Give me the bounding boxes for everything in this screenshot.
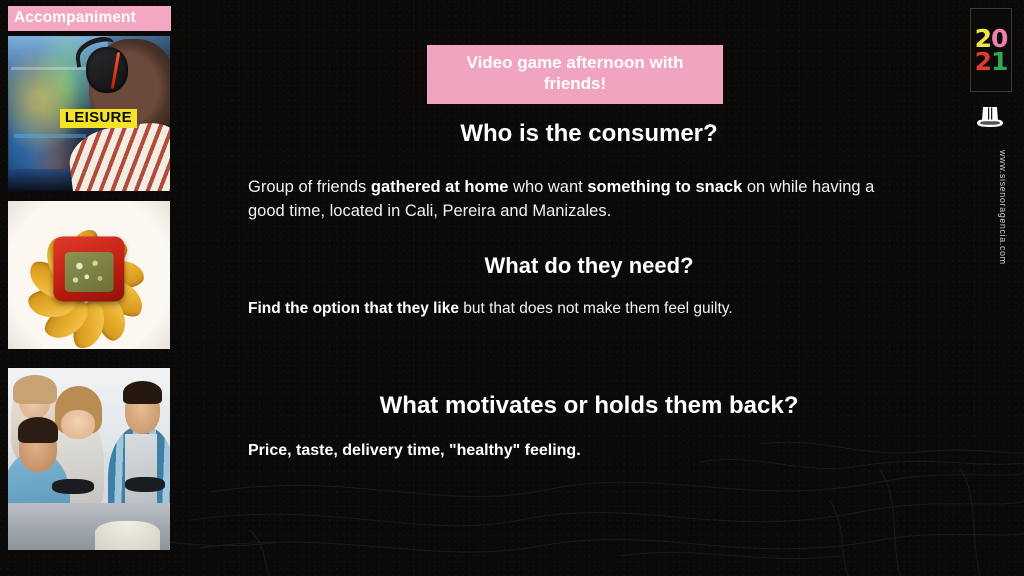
- main-content: Video game afternoon with friends! Who i…: [248, 0, 930, 576]
- year-logo-box: 2 0 2 1: [970, 8, 1012, 92]
- empanadas-photo: [8, 201, 170, 349]
- leisure-badge: LEISURE: [60, 109, 137, 129]
- emphasis-text: something to snack: [587, 178, 742, 196]
- emphasis-text: Price, taste, delivery time, "healthy" f…: [248, 442, 581, 459]
- emphasis-text: gathered at home: [371, 178, 509, 196]
- brand-logo: 2 0 2 1: [968, 8, 1014, 92]
- section-body-motivation: Price, taste, delivery time, "healthy" f…: [248, 439, 908, 462]
- website-url: www.sisenoragencia.com: [998, 150, 1008, 265]
- section-body-need: Find the option that they like but that …: [248, 298, 908, 320]
- gamer-with-headphones-photo: LEISURE: [8, 36, 170, 191]
- section-body-consumer: Group of friends gathered at home who wa…: [248, 176, 908, 224]
- plain-text: Group of friends: [248, 178, 371, 196]
- category-banner: Accompaniment: [8, 6, 171, 31]
- plain-text: who want: [508, 178, 587, 196]
- logo-digit-2b: 2: [975, 50, 991, 73]
- plain-text: but that does not make them feel guilty.: [459, 300, 733, 317]
- section-heading-need: What do they need?: [248, 253, 930, 279]
- logo-digit-1: 1: [991, 50, 1007, 73]
- friends-gaming-photo: [8, 368, 170, 550]
- top-hat-icon: [974, 104, 1006, 130]
- year-logo-row-bottom: 2 1: [975, 50, 1008, 73]
- emphasis-text: Find the option that they like: [248, 300, 459, 317]
- slide-canvas: Accompaniment LEISURE: [0, 0, 1024, 576]
- slide-title-banner: Video game afternoon with friends!: [427, 45, 723, 104]
- section-heading-consumer: Who is the consumer?: [248, 120, 930, 148]
- left-photo-column: Accompaniment: [8, 6, 174, 31]
- section-heading-motivation: What motivates or holds them back?: [248, 392, 930, 420]
